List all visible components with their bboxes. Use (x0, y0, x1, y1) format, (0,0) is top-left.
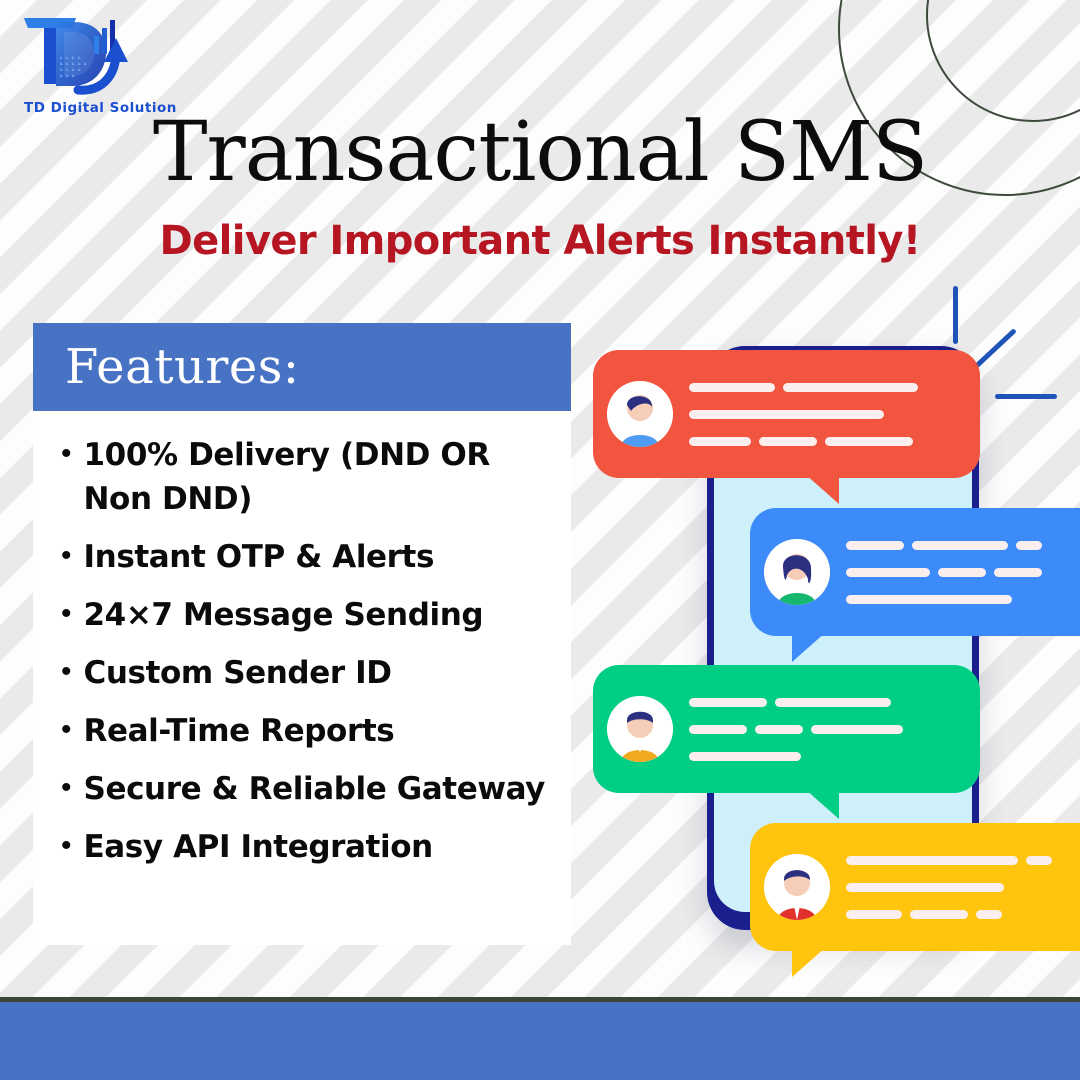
bullet-icon: • (61, 773, 72, 803)
bullet-icon: • (61, 715, 72, 745)
bubble-text-lines (830, 847, 1080, 928)
bubble-line (846, 883, 1004, 892)
feature-label: Custom Sender ID (84, 651, 392, 695)
chat-bubble-yellow (750, 823, 1080, 951)
list-item: • Secure & Reliable Gateway (47, 767, 557, 811)
feature-label: Real-Time Reports (84, 709, 395, 753)
bubble-tail (805, 474, 839, 504)
feature-label: 24×7 Message Sending (84, 593, 484, 637)
features-panel: Features: • 100% Delivery (DND OR Non DN… (33, 323, 571, 945)
bubble-line-row (689, 743, 960, 770)
bubble-line-row (846, 874, 1080, 901)
feature-label: Instant OTP & Alerts (84, 535, 435, 579)
avatar-person-icon (764, 539, 830, 605)
bubble-line (846, 595, 1012, 604)
bubble-line-row (689, 401, 960, 428)
bubble-line (846, 856, 1018, 865)
chat-bubble-green (593, 665, 980, 793)
list-item: • Real-Time Reports (47, 709, 557, 753)
feature-label: Easy API Integration (84, 825, 433, 869)
bubble-line (846, 541, 904, 550)
bubble-line-row (689, 689, 960, 716)
features-panel-header: Features: (33, 323, 571, 411)
bubble-line (775, 698, 891, 707)
bubble-line (912, 541, 1008, 550)
bubble-tail (805, 789, 839, 819)
bubble-text-lines (673, 374, 980, 455)
list-item: • 24×7 Message Sending (47, 593, 557, 637)
bubble-line-row (689, 428, 960, 455)
avatar-person-icon (764, 854, 830, 920)
list-item: • 100% Delivery (DND OR Non DND) (47, 433, 557, 521)
bubble-line (689, 383, 775, 392)
features-list: • 100% Delivery (DND OR Non DND) • Insta… (33, 411, 571, 945)
bubble-line (689, 752, 801, 761)
bubble-line-row (846, 901, 1080, 928)
bubble-text-lines (830, 532, 1080, 613)
bubble-line (846, 568, 930, 577)
bubble-tail (792, 632, 826, 662)
list-item: • Custom Sender ID (47, 651, 557, 695)
bubble-line-row (846, 586, 1080, 613)
avatar-person-icon (607, 381, 673, 447)
bullet-icon: • (61, 657, 72, 687)
bubble-line (689, 410, 884, 419)
bubble-line-row (689, 716, 960, 743)
bubble-line (825, 437, 913, 446)
page-subtitle: Deliver Important Alerts Instantly! (0, 218, 1080, 264)
bubble-line-row (689, 374, 960, 401)
page-title: Transactional SMS (0, 112, 1080, 194)
bubble-line (846, 910, 902, 919)
logo-mark-icon (16, 12, 166, 104)
bubble-line (755, 725, 803, 734)
bubble-line (689, 437, 751, 446)
bubble-line (689, 725, 747, 734)
poster-canvas: TD Digital Solution Transactional SMS De… (0, 0, 1080, 1080)
avatar (607, 381, 673, 447)
bubble-line (938, 568, 986, 577)
bullet-icon: • (61, 599, 72, 629)
bubble-line (1026, 856, 1052, 865)
avatar-person-icon (607, 696, 673, 762)
bubble-line (976, 910, 1002, 919)
bullet-icon: • (61, 831, 72, 861)
bubble-tail (792, 947, 826, 977)
bubble-line (689, 698, 767, 707)
bubble-line (811, 725, 903, 734)
bubble-line (994, 568, 1042, 577)
bullet-icon: • (61, 439, 72, 469)
bubble-line (910, 910, 968, 919)
bubble-line-row (846, 847, 1080, 874)
bubble-line (1016, 541, 1042, 550)
list-item: • Easy API Integration (47, 825, 557, 869)
chat-bubble-red (593, 350, 980, 478)
td-digital-solution-logo: TD Digital Solution (16, 12, 166, 120)
avatar (764, 539, 830, 605)
footer-band (0, 997, 1080, 1080)
bullet-icon: • (61, 541, 72, 571)
bubble-text-lines (673, 689, 980, 770)
chat-bubble-blue (750, 508, 1080, 636)
avatar (607, 696, 673, 762)
bubble-line (783, 383, 918, 392)
bubble-line-row (846, 532, 1080, 559)
smartphone-chat-illustration (585, 268, 1080, 948)
feature-label: Secure & Reliable Gateway (84, 767, 545, 811)
bubble-line-row (846, 559, 1080, 586)
bubble-line (759, 437, 817, 446)
notification-ring-line-vertical (953, 286, 958, 344)
notification-ring-line-horizontal (995, 394, 1057, 399)
avatar (764, 854, 830, 920)
features-heading: Features: (65, 339, 300, 395)
list-item: • Instant OTP & Alerts (47, 535, 557, 579)
feature-label: 100% Delivery (DND OR Non DND) (84, 433, 557, 521)
